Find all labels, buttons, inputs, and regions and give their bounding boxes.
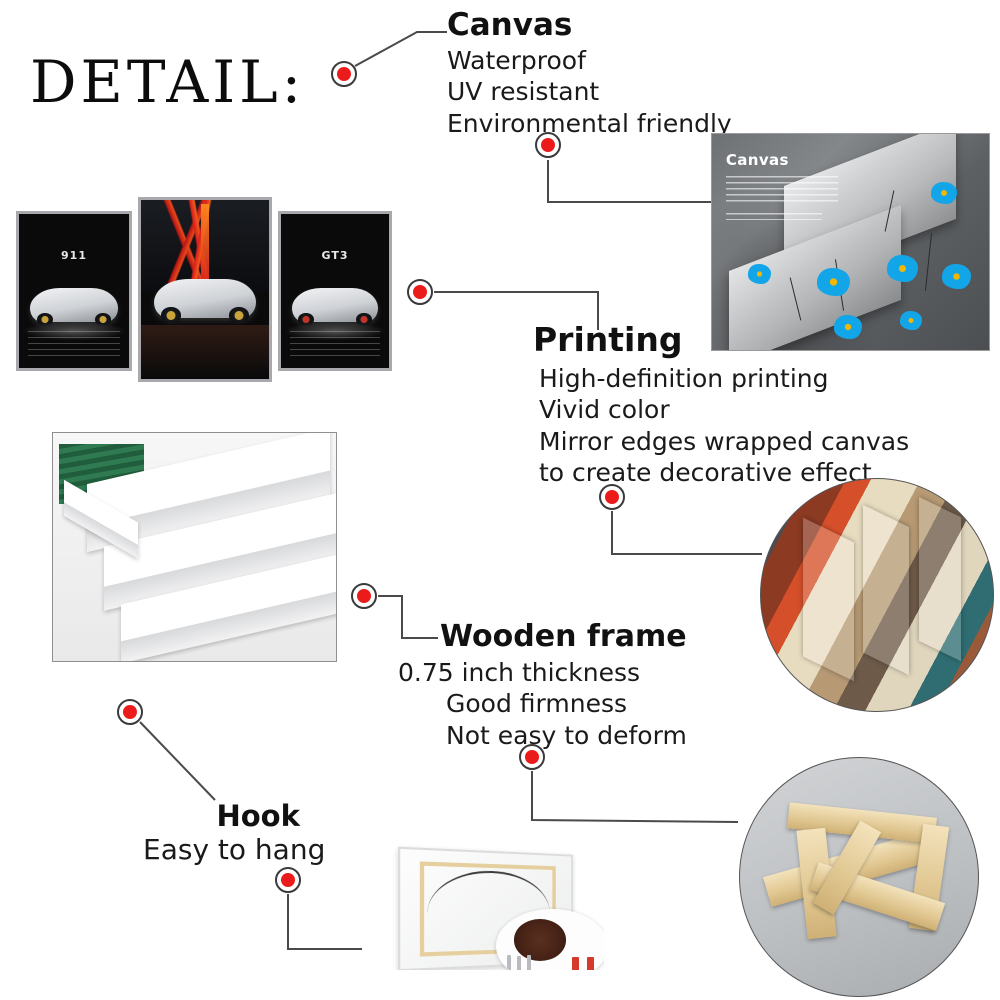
poster-panel-1-spec-block [28, 331, 120, 356]
poster-panel-1: 911 [16, 211, 132, 371]
callout-hook: Hook Easy to hang [143, 800, 325, 868]
blue-flower [931, 182, 957, 204]
marker-dot-printing[interactable] [407, 279, 433, 305]
blue-flower [887, 255, 918, 282]
callout-wooden-frame-heading: Wooden frame [440, 620, 687, 654]
wrapped-edge [919, 497, 961, 661]
blue-flower [834, 315, 862, 339]
callout-hook-heading: Hook [191, 800, 325, 832]
overlay-fine-print-block-2 [726, 213, 822, 220]
wrapped-edge [863, 505, 909, 676]
callout-wooden-frame-line-2: Good firmness [446, 688, 687, 720]
photo-canvas-stack [52, 432, 337, 662]
photo-wooden-bars [739, 757, 979, 997]
blue-flower [942, 264, 971, 289]
detail-infographic: DETAIL: Canvas Waterproof UV resistant E… [0, 0, 1000, 1000]
callout-wooden-frame: Wooden frame 0.75 inch thickness Good fi… [398, 620, 687, 751]
wire-coil [514, 919, 566, 960]
blue-flower [900, 311, 922, 330]
poster-panel-3-spec-block [290, 331, 381, 356]
car-wheel-right [229, 307, 248, 323]
car-wheel-left [161, 307, 180, 323]
callout-hook-line-1: Easy to hang [143, 832, 325, 867]
poster-panel-2 [138, 197, 272, 382]
callout-canvas: Canvas Waterproof UV resistant Environme… [447, 8, 732, 139]
poster-panel-1-title: 911 [19, 249, 129, 262]
wall-plug [572, 957, 579, 970]
canvas-sample-overlay: Canvas [726, 151, 838, 220]
poster-panel-3-title: GT3 [281, 249, 389, 262]
marker-dot-wooden-frame[interactable] [351, 583, 377, 609]
canvas-overlay-title: Canvas [726, 151, 838, 169]
photo-canvas-sample: Canvas [711, 133, 990, 351]
wrapped-edge [803, 518, 854, 682]
callout-canvas-line-1: Waterproof [447, 45, 732, 77]
photo-poster-set: 911 GT3 [16, 197, 392, 382]
screw [507, 955, 511, 970]
callout-printing-line-1: High-definition printing [533, 363, 909, 395]
overlay-fine-print-block [726, 176, 838, 206]
callout-printing-line-3: Mirror edges wrapped canvas [533, 426, 909, 458]
floor-reflection [141, 325, 269, 379]
marker-dot-hook[interactable] [117, 699, 143, 725]
blue-flower [748, 264, 771, 284]
screw [527, 955, 531, 970]
callout-canvas-line-2: UV resistant [447, 76, 732, 108]
marker-dot-hook-hardware[interactable] [275, 867, 301, 893]
screw [517, 956, 521, 970]
callout-printing-line-2: Vivid color [533, 394, 909, 426]
callout-wooden-frame-line-1: 0.75 inch thickness [398, 657, 687, 689]
photo-mirror-wrap [760, 478, 994, 712]
photo-hook-hardware [388, 843, 604, 970]
callout-canvas-heading: Canvas [447, 8, 732, 43]
marker-dot-canvas-text[interactable] [331, 61, 357, 87]
blue-flower [817, 268, 850, 296]
flower-stem [925, 233, 932, 291]
wall-plug [587, 957, 594, 970]
callout-canvas-line-3: Environmental friendly [447, 108, 732, 140]
callout-wooden-frame-line-3: Not easy to deform [446, 720, 687, 752]
poster-panel-3: GT3 [278, 211, 392, 371]
center-light-strip [201, 204, 209, 286]
